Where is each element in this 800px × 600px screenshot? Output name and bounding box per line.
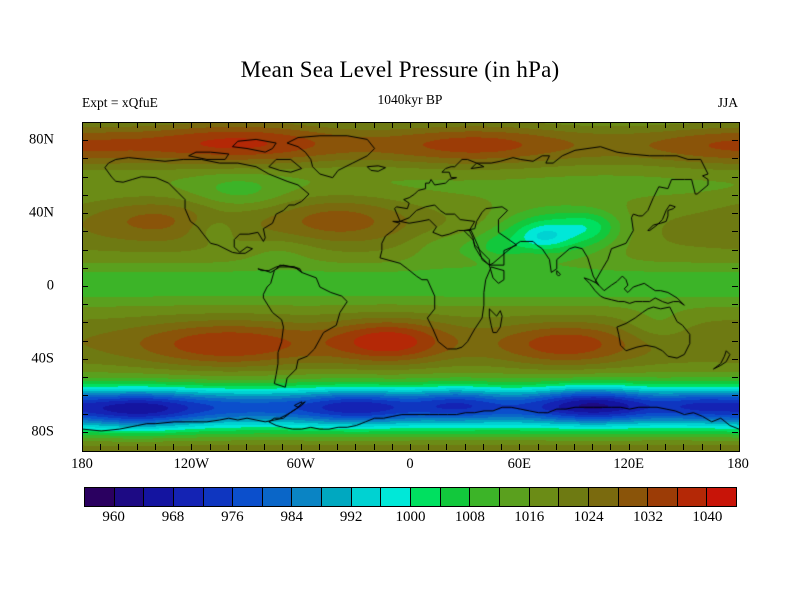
- lon-minor-tick: [100, 122, 101, 128]
- lon-minor-tick: [246, 444, 247, 450]
- latitude-tick-label: 80N: [0, 132, 54, 149]
- lat-minor-tick: [732, 359, 738, 360]
- lat-minor-tick: [82, 140, 88, 141]
- colorbar-swatch: [292, 488, 322, 506]
- page-title: Mean Sea Level Pressure (in hPa): [0, 57, 800, 83]
- longitude-tick-label: 0: [370, 456, 450, 473]
- lon-minor-tick: [629, 444, 630, 450]
- lat-minor-tick: [82, 177, 88, 178]
- colorbar-swatch: [648, 488, 678, 506]
- lon-minor-tick: [465, 444, 466, 450]
- lon-minor-tick: [264, 444, 265, 450]
- lon-minor-tick: [355, 444, 356, 450]
- lon-minor-tick: [519, 122, 520, 128]
- lon-minor-tick: [228, 122, 229, 128]
- lon-minor-tick: [155, 122, 156, 128]
- lon-minor-tick: [410, 444, 411, 450]
- colorbar-swatch: [589, 488, 619, 506]
- colorbar-swatch: [204, 488, 234, 506]
- lon-minor-tick: [446, 122, 447, 128]
- lon-minor-tick: [301, 122, 302, 128]
- longitude-tick-label: 120E: [589, 456, 669, 473]
- latitude-tick-label: 40N: [0, 205, 54, 222]
- lon-minor-tick: [665, 122, 666, 128]
- longitude-tick-label: 60E: [479, 456, 559, 473]
- lon-minor-tick: [720, 122, 721, 128]
- lat-minor-tick: [82, 195, 88, 196]
- lat-minor-tick: [732, 213, 738, 214]
- longitude-tick-label: 180: [698, 456, 778, 473]
- longitude-tick-label: 180: [42, 456, 122, 473]
- colorbar-swatch: [144, 488, 174, 506]
- colorbar: [84, 487, 737, 507]
- lon-minor-tick: [282, 444, 283, 450]
- lon-minor-tick: [647, 122, 648, 128]
- lat-minor-tick: [732, 341, 738, 342]
- lat-minor-tick: [82, 158, 88, 159]
- lon-minor-tick: [538, 444, 539, 450]
- lon-minor-tick: [556, 444, 557, 450]
- lon-minor-tick: [592, 444, 593, 450]
- colorbar-swatch: [678, 488, 708, 506]
- lon-minor-tick: [173, 444, 174, 450]
- lon-minor-tick: [191, 122, 192, 128]
- colorbar-swatch: [352, 488, 382, 506]
- map-plot-area: [82, 122, 740, 452]
- colorbar-swatch: [559, 488, 589, 506]
- lon-minor-tick: [683, 444, 684, 450]
- lon-minor-tick: [137, 444, 138, 450]
- colorbar-tick-label: 1040: [672, 509, 742, 526]
- lon-minor-tick: [374, 122, 375, 128]
- lat-minor-tick: [732, 158, 738, 159]
- lon-minor-tick: [683, 122, 684, 128]
- latitude-tick-label: 80S: [0, 423, 54, 440]
- lon-minor-tick: [210, 444, 211, 450]
- lon-minor-tick: [702, 122, 703, 128]
- lon-minor-tick: [319, 444, 320, 450]
- lon-minor-tick: [629, 122, 630, 128]
- lat-minor-tick: [732, 268, 738, 269]
- header-annotations: Expt = xQfuE 1040kyr BP JJA: [82, 95, 738, 117]
- lat-minor-tick: [732, 395, 738, 396]
- lat-minor-tick: [732, 195, 738, 196]
- lat-minor-tick: [732, 286, 738, 287]
- lat-minor-tick: [82, 268, 88, 269]
- lat-minor-tick: [82, 286, 88, 287]
- lat-minor-tick: [82, 231, 88, 232]
- lon-minor-tick: [720, 444, 721, 450]
- lon-minor-tick: [264, 122, 265, 128]
- lat-minor-tick: [82, 341, 88, 342]
- lat-minor-tick: [732, 322, 738, 323]
- lat-minor-tick: [82, 304, 88, 305]
- lon-minor-tick: [319, 122, 320, 128]
- lon-minor-tick: [574, 122, 575, 128]
- lon-minor-tick: [137, 122, 138, 128]
- lon-minor-tick: [574, 444, 575, 450]
- colorbar-swatch: [322, 488, 352, 506]
- lon-minor-tick: [483, 444, 484, 450]
- lon-minor-tick: [155, 444, 156, 450]
- lon-minor-tick: [702, 444, 703, 450]
- lon-minor-tick: [173, 122, 174, 128]
- colorbar-swatch: [530, 488, 560, 506]
- lon-minor-tick: [282, 122, 283, 128]
- colorbar-swatch: [441, 488, 471, 506]
- lon-minor-tick: [118, 444, 119, 450]
- colorbar-swatch: [174, 488, 204, 506]
- lon-minor-tick: [301, 444, 302, 450]
- lon-minor-tick: [519, 444, 520, 450]
- lat-minor-tick: [82, 322, 88, 323]
- season-label: JJA: [718, 95, 738, 111]
- lon-minor-tick: [556, 122, 557, 128]
- lon-minor-tick: [610, 444, 611, 450]
- lon-minor-tick: [446, 444, 447, 450]
- pressure-field-canvas: [83, 123, 739, 451]
- lon-minor-tick: [647, 444, 648, 450]
- lon-minor-tick: [337, 122, 338, 128]
- lat-minor-tick: [732, 231, 738, 232]
- lat-minor-tick: [82, 213, 88, 214]
- lon-minor-tick: [210, 122, 211, 128]
- colorbar-swatch: [263, 488, 293, 506]
- colorbar-swatch: [470, 488, 500, 506]
- colorbar-swatch: [381, 488, 411, 506]
- lon-minor-tick: [228, 444, 229, 450]
- latitude-tick-label: 40S: [0, 350, 54, 367]
- lat-minor-tick: [82, 414, 88, 415]
- colorbar-swatch: [233, 488, 263, 506]
- lat-minor-tick: [732, 432, 738, 433]
- lon-minor-tick: [355, 122, 356, 128]
- lon-minor-tick: [337, 444, 338, 450]
- period-label: 1040kyr BP: [82, 92, 738, 108]
- lat-minor-tick: [82, 395, 88, 396]
- lon-minor-tick: [483, 122, 484, 128]
- lat-minor-tick: [732, 377, 738, 378]
- lon-minor-tick: [392, 122, 393, 128]
- latitude-tick-label: 0: [0, 278, 54, 295]
- lon-minor-tick: [610, 122, 611, 128]
- lon-minor-tick: [538, 122, 539, 128]
- colorbar-labels: 960968976984992100010081016102410321040: [84, 509, 737, 531]
- lat-minor-tick: [82, 432, 88, 433]
- lon-minor-tick: [465, 122, 466, 128]
- lon-minor-tick: [118, 122, 119, 128]
- lon-minor-tick: [428, 444, 429, 450]
- colorbar-swatch: [707, 488, 736, 506]
- lon-minor-tick: [665, 444, 666, 450]
- lat-minor-tick: [732, 414, 738, 415]
- lat-minor-tick: [732, 250, 738, 251]
- lon-minor-tick: [501, 444, 502, 450]
- colorbar-swatch: [619, 488, 649, 506]
- lon-minor-tick: [191, 444, 192, 450]
- colorbar-swatch: [115, 488, 145, 506]
- lat-minor-tick: [732, 304, 738, 305]
- lat-minor-tick: [82, 377, 88, 378]
- lon-minor-tick: [592, 122, 593, 128]
- lon-minor-tick: [100, 444, 101, 450]
- lon-minor-tick: [410, 122, 411, 128]
- longitude-tick-label: 120W: [151, 456, 231, 473]
- colorbar-swatch: [500, 488, 530, 506]
- lat-minor-tick: [82, 250, 88, 251]
- lat-minor-tick: [732, 177, 738, 178]
- lon-minor-tick: [392, 444, 393, 450]
- lon-minor-tick: [246, 122, 247, 128]
- colorbar-swatch: [85, 488, 115, 506]
- longitude-tick-label: 60W: [261, 456, 341, 473]
- lon-minor-tick: [374, 444, 375, 450]
- lon-minor-tick: [428, 122, 429, 128]
- lat-minor-tick: [82, 359, 88, 360]
- lat-minor-tick: [732, 140, 738, 141]
- lon-minor-tick: [501, 122, 502, 128]
- colorbar-swatch: [411, 488, 441, 506]
